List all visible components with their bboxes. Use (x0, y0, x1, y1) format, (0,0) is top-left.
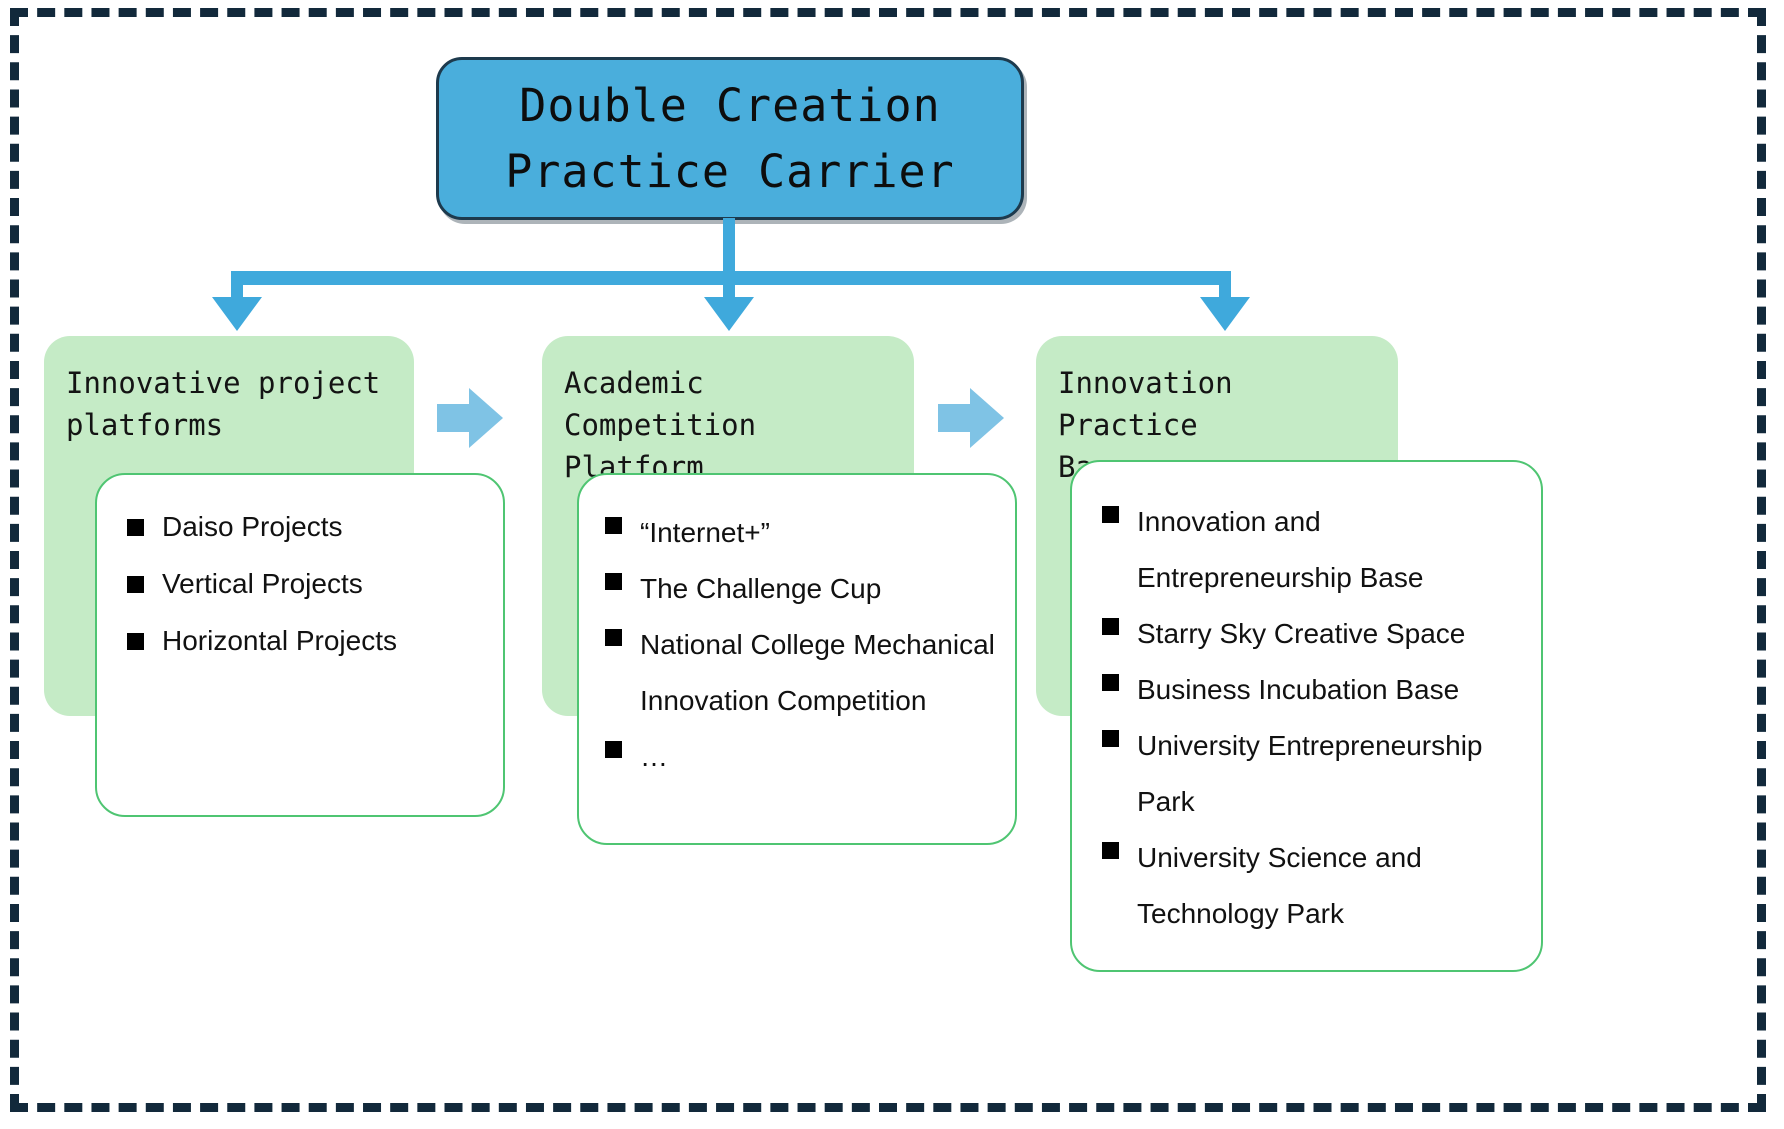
list-item: “Internet+” (605, 505, 995, 561)
right-chevron-arrow-icon-1 (437, 388, 503, 448)
square-bullet-icon (1102, 618, 1119, 635)
connector-drop-center (723, 271, 735, 299)
column-header-line-2: platforms (66, 404, 394, 446)
list-item-label: University Entrepreneurship Park (1137, 718, 1525, 830)
square-bullet-icon (127, 576, 144, 593)
list-item: … (605, 729, 995, 785)
connector-drop-left (231, 271, 243, 299)
list-item-label: The Challenge Cup (640, 561, 995, 617)
root-title-box: Double Creation Practice Carrier (436, 57, 1024, 220)
square-bullet-icon (605, 517, 622, 534)
column-content-card: Innovation and Entrepreneurship Base Sta… (1070, 460, 1543, 972)
connector-drop-right (1219, 271, 1231, 299)
list-item-label: Vertical Projects (162, 564, 483, 604)
list-item-label: National College Mechanical Innovation C… (640, 617, 995, 729)
bullet-list: Daiso Projects Vertical Projects Horizon… (127, 507, 483, 661)
root-title-line-2: Practice Carrier (505, 139, 954, 205)
column-content-card: “Internet+” The Challenge Cup National C… (577, 473, 1017, 845)
column-header-line-1: Innovative project (66, 362, 394, 404)
list-item: Vertical Projects (127, 564, 483, 604)
square-bullet-icon (1102, 842, 1119, 859)
square-bullet-icon (127, 633, 144, 650)
list-item-label: “Internet+” (640, 505, 995, 561)
list-item: University Entrepreneurship Park (1102, 718, 1525, 830)
bullet-list: Innovation and Entrepreneurship Base Sta… (1102, 494, 1525, 942)
square-bullet-icon (127, 519, 144, 536)
column-header-line-1: Academic Competition (564, 362, 894, 446)
list-item-label: Innovation and Entrepreneurship Base (1137, 494, 1525, 606)
list-item: National College Mechanical Innovation C… (605, 617, 995, 729)
chevron-head (469, 388, 503, 448)
square-bullet-icon (1102, 730, 1119, 747)
bullet-list: “Internet+” The Challenge Cup National C… (605, 505, 995, 785)
list-item-label: … (640, 729, 995, 785)
square-bullet-icon (605, 741, 622, 758)
list-item-label: Business Incubation Base (1137, 662, 1525, 718)
chevron-head (970, 388, 1004, 448)
down-arrow-icon-right (1200, 297, 1250, 331)
list-item-label: Daiso Projects (162, 507, 483, 547)
square-bullet-icon (605, 629, 622, 646)
list-item: University Science and Technology Park (1102, 830, 1525, 942)
column-content-card: Daiso Projects Vertical Projects Horizon… (95, 473, 505, 817)
down-arrow-icon-center (704, 297, 754, 331)
list-item: Horizontal Projects (127, 621, 483, 661)
list-item: Daiso Projects (127, 507, 483, 547)
list-item-label: Starry Sky Creative Space (1137, 606, 1525, 662)
root-title-line-1: Double Creation (519, 73, 940, 139)
down-arrow-icon-left (212, 297, 262, 331)
list-item: Innovation and Entrepreneurship Base (1102, 494, 1525, 606)
square-bullet-icon (605, 573, 622, 590)
list-item: Starry Sky Creative Space (1102, 606, 1525, 662)
square-bullet-icon (1102, 506, 1119, 523)
list-item-label: Horizontal Projects (162, 621, 483, 661)
column-header-line-1: Innovation Practice (1058, 362, 1378, 446)
diagram-canvas: Double Creation Practice Carrier Innovat… (0, 0, 1784, 1129)
list-item: Business Incubation Base (1102, 662, 1525, 718)
right-chevron-arrow-icon-2 (938, 388, 1004, 448)
list-item: The Challenge Cup (605, 561, 995, 617)
square-bullet-icon (1102, 674, 1119, 691)
list-item-label: University Science and Technology Park (1137, 830, 1525, 942)
